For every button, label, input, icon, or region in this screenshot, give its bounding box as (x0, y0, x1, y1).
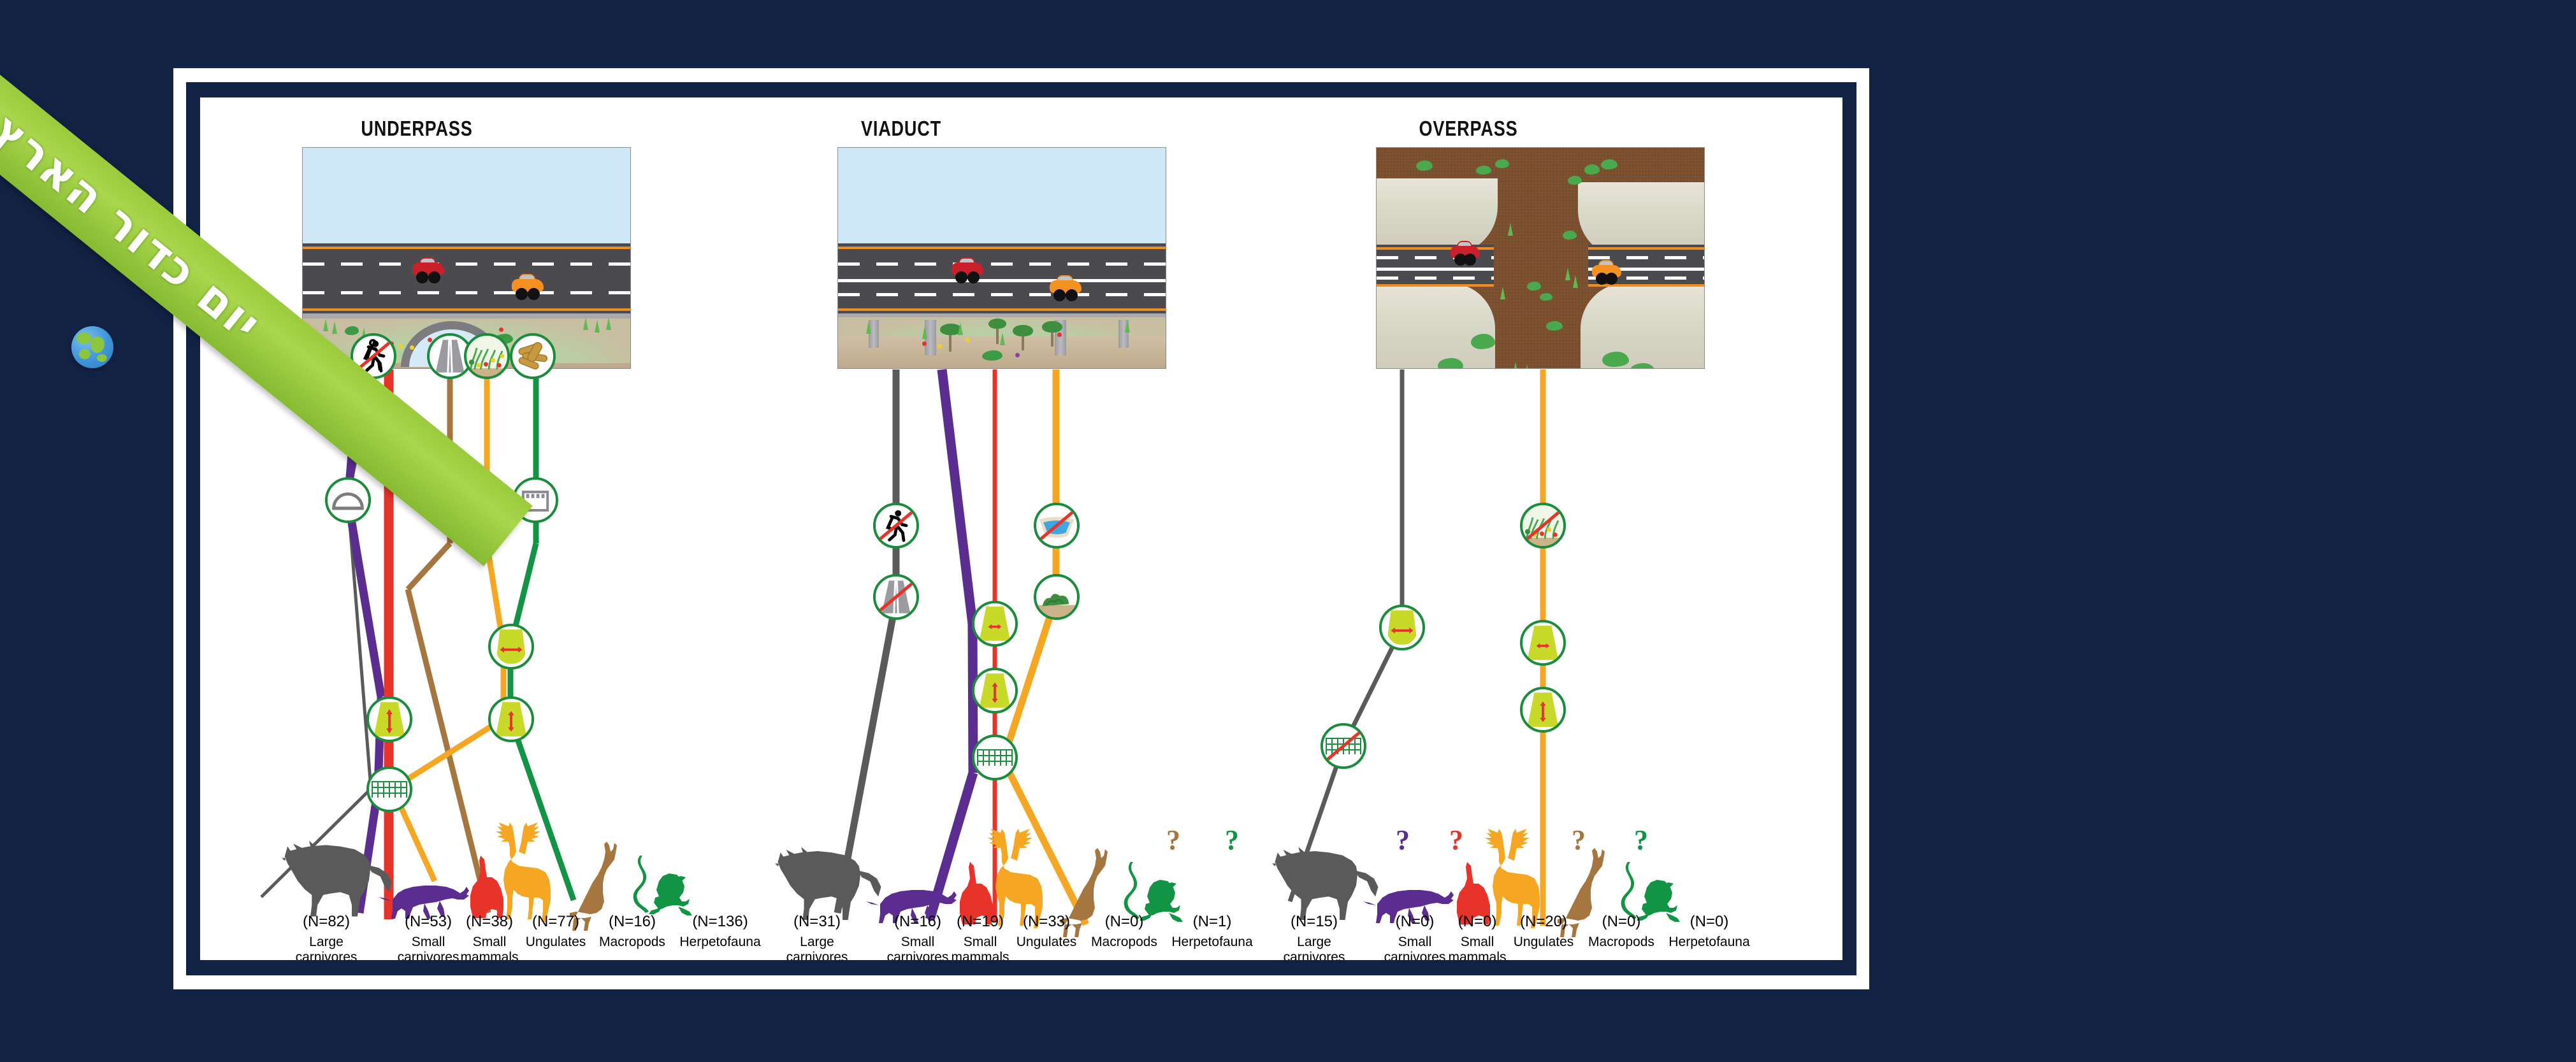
deer-icon (496, 822, 551, 922)
count-herpetofauna: (N=0) (1658, 913, 1760, 931)
label-herpetofauna: Herpetofauna (1658, 935, 1760, 950)
globe-icon (71, 326, 113, 368)
poster-inner-frame: UNDERPASS VIADUCT OVERPASS (186, 82, 1856, 975)
label-ungulates: Ungulates (516, 935, 595, 950)
count-macropods: (N=16) (591, 913, 673, 931)
count-herpetofauna: (N=136) (669, 913, 771, 931)
frog-icon (649, 873, 692, 915)
count-ungulates: (N=77) (516, 913, 595, 931)
label-large-carnivores: Largecarnivores (1263, 935, 1365, 960)
label-large-carnivores: Largecarnivores (766, 935, 868, 960)
wolf-icon (282, 841, 391, 917)
count-herpetofauna: (N=1) (1161, 913, 1263, 931)
rabbit-icon (470, 856, 503, 918)
label-large-carnivores: Largecarnivores (275, 935, 377, 960)
count-ungulates: (N=33) (1007, 913, 1086, 931)
snake-icon (633, 856, 649, 913)
wolf-icon (775, 847, 881, 919)
label-macropods: Macropods (1581, 935, 1662, 950)
poster-outer-frame: UNDERPASS VIADUCT OVERPASS (173, 68, 1869, 989)
count-large-carnivores: (N=82) (275, 913, 377, 931)
label-herpetofauna: Herpetofauna (1161, 935, 1263, 950)
count-macropods: (N=0) (1581, 913, 1662, 931)
label-macropods: Macropods (1083, 935, 1165, 950)
label-macropods: Macropods (591, 935, 673, 950)
label-ungulates: Ungulates (1504, 935, 1583, 950)
count-large-carnivores: (N=15) (1263, 913, 1365, 931)
count-macropods: (N=0) (1083, 913, 1165, 931)
wolf-icon (1272, 847, 1378, 919)
snake-icon (1621, 862, 1637, 919)
count-large-carnivores: (N=31) (766, 913, 868, 931)
label-herpetofauna: Herpetofauna (669, 935, 771, 950)
count-ungulates: (N=20) (1504, 913, 1583, 931)
label-ungulates: Ungulates (1007, 935, 1086, 950)
snake-icon (1124, 862, 1140, 919)
